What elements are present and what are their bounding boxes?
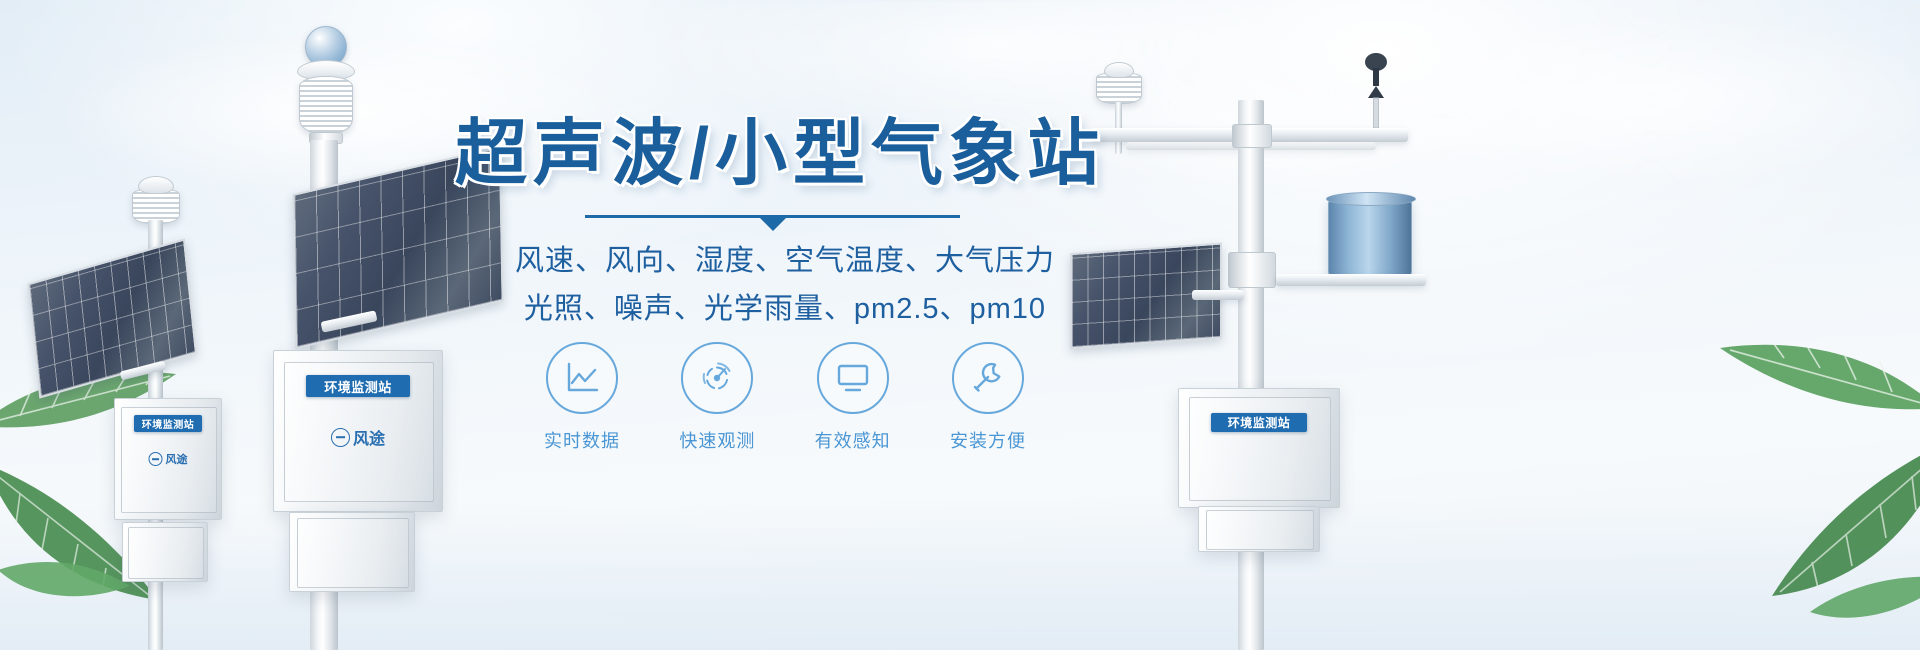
title-divider bbox=[585, 215, 960, 218]
cabinet-left-brand: 风途 bbox=[149, 451, 188, 467]
cabinet-main-plate: 环境监测站 bbox=[306, 375, 410, 397]
feature-label: 有效感知 bbox=[815, 427, 891, 453]
feature-item-effective-sensing[interactable]: 有效感知 bbox=[798, 342, 908, 453]
cabinet-main-brand: 风途 bbox=[331, 425, 385, 449]
monitor-icon bbox=[817, 342, 889, 414]
subtitle-line-1: 风速、风向、湿度、空气温度、大气压力 bbox=[455, 237, 1115, 279]
rain-gauge-shelf bbox=[1276, 274, 1426, 286]
feature-label: 实时数据 bbox=[544, 427, 620, 453]
feature-list: 实时数据 bbox=[527, 342, 1043, 453]
equipment-left-station: 环境监测站 风途 bbox=[100, 170, 230, 650]
wind-vane-sensor bbox=[1356, 52, 1396, 132]
line-chart-icon bbox=[546, 342, 618, 414]
cabinet-left-lower bbox=[122, 522, 208, 582]
equipment-main-station: 环境监测站 风途 bbox=[255, 20, 475, 650]
ultrasonic-wind-sensor bbox=[1096, 62, 1140, 110]
mast-right bbox=[1238, 100, 1264, 650]
brand-logo-icon bbox=[149, 452, 163, 466]
feature-item-fast-observation[interactable]: 快速观测 bbox=[662, 342, 772, 453]
feature-label: 安装方便 bbox=[950, 427, 1026, 453]
mast-collar-mid bbox=[1228, 252, 1276, 288]
radiation-shield-main bbox=[299, 76, 351, 132]
brand-logo-icon bbox=[331, 428, 350, 447]
equipment-right-station: 环境监测站 bbox=[1060, 40, 1480, 650]
page-title: 超声波/小型气象站 bbox=[455, 118, 1115, 190]
cabinet-right-lower bbox=[1198, 506, 1320, 552]
cabinet-left-brand-text: 风途 bbox=[166, 451, 188, 467]
cabinet-right: 环境监测站 bbox=[1178, 388, 1340, 508]
cabinet-main-brand-text: 风途 bbox=[353, 425, 385, 449]
cabinet-left: 环境监测站 风途 bbox=[114, 398, 222, 520]
wrench-icon bbox=[952, 342, 1024, 414]
ultrasonic-cap bbox=[1104, 62, 1134, 78]
cabinet-main: 环境监测站 风途 bbox=[273, 350, 443, 512]
cabinet-left-plate: 环境监测站 bbox=[134, 415, 202, 432]
radar-wind-icon bbox=[681, 342, 753, 414]
leaf-right-lower bbox=[1660, 400, 1920, 630]
sensor-cap-left bbox=[138, 176, 174, 194]
feature-label: 快速观测 bbox=[679, 427, 755, 453]
panel-bracket-right bbox=[1192, 290, 1244, 300]
cabinet-main-lower bbox=[289, 512, 415, 592]
feature-item-realtime-data[interactable]: 实时数据 bbox=[527, 342, 637, 453]
feature-item-easy-install[interactable]: 安装方便 bbox=[933, 342, 1043, 453]
mast-collar-top bbox=[1232, 124, 1272, 148]
rain-gauge bbox=[1328, 198, 1412, 276]
subtitle-line-2: 光照、噪声、光学雨量、pm2.5、pm10 bbox=[455, 285, 1115, 327]
cabinet-right-plate: 环境监测站 bbox=[1211, 413, 1307, 432]
banner-stage: 环境监测站 风途 环境监测站 bbox=[0, 0, 1920, 650]
